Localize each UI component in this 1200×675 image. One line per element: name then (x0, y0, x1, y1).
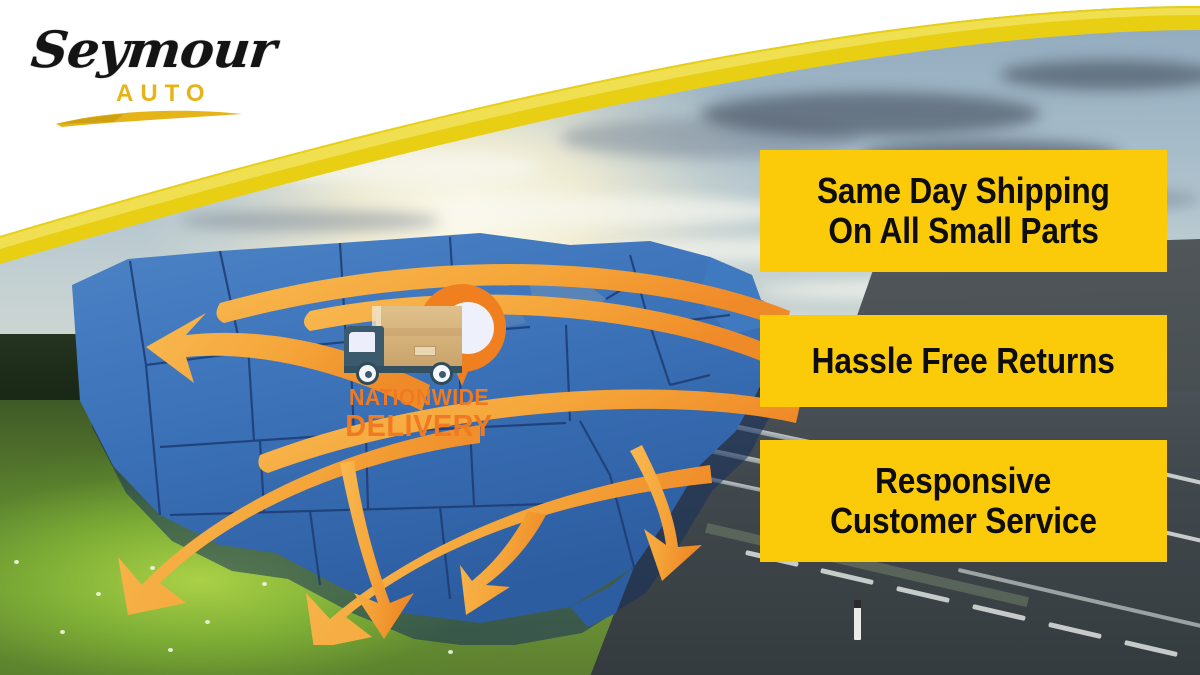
badge-line-1: NATIONWIDE (331, 386, 508, 409)
claim-box-hassle-free-returns[interactable]: Hassle Free Returns (760, 315, 1167, 407)
badge-caption: NATIONWIDE DELIVERY (324, 386, 514, 441)
logo-swoosh-icon (54, 106, 244, 128)
claim-line: Hassle Free Returns (812, 341, 1115, 381)
claim-line: On All Small Parts (828, 211, 1098, 251)
claim-line: Responsive (875, 461, 1051, 501)
brand-name: Seymour (29, 20, 279, 79)
promo-banner: NATIONWIDE DELIVERY Seymour AUTO Same Da… (0, 0, 1200, 675)
claim-line: Same Day Shipping (817, 171, 1110, 211)
claim-line: Customer Service (830, 501, 1097, 541)
nationwide-delivery-badge: NATIONWIDE DELIVERY (338, 282, 498, 450)
claim-box-responsive-customer-service[interactable]: Responsive Customer Service (760, 440, 1167, 562)
claim-box-same-day-shipping[interactable]: Same Day Shipping On All Small Parts (760, 150, 1167, 272)
badge-line-2: DELIVERY (331, 411, 508, 441)
brand-logo[interactable]: Seymour AUTO (28, 18, 248, 118)
road-marker-post (854, 600, 861, 640)
brand-subtitle: AUTO (116, 80, 212, 108)
